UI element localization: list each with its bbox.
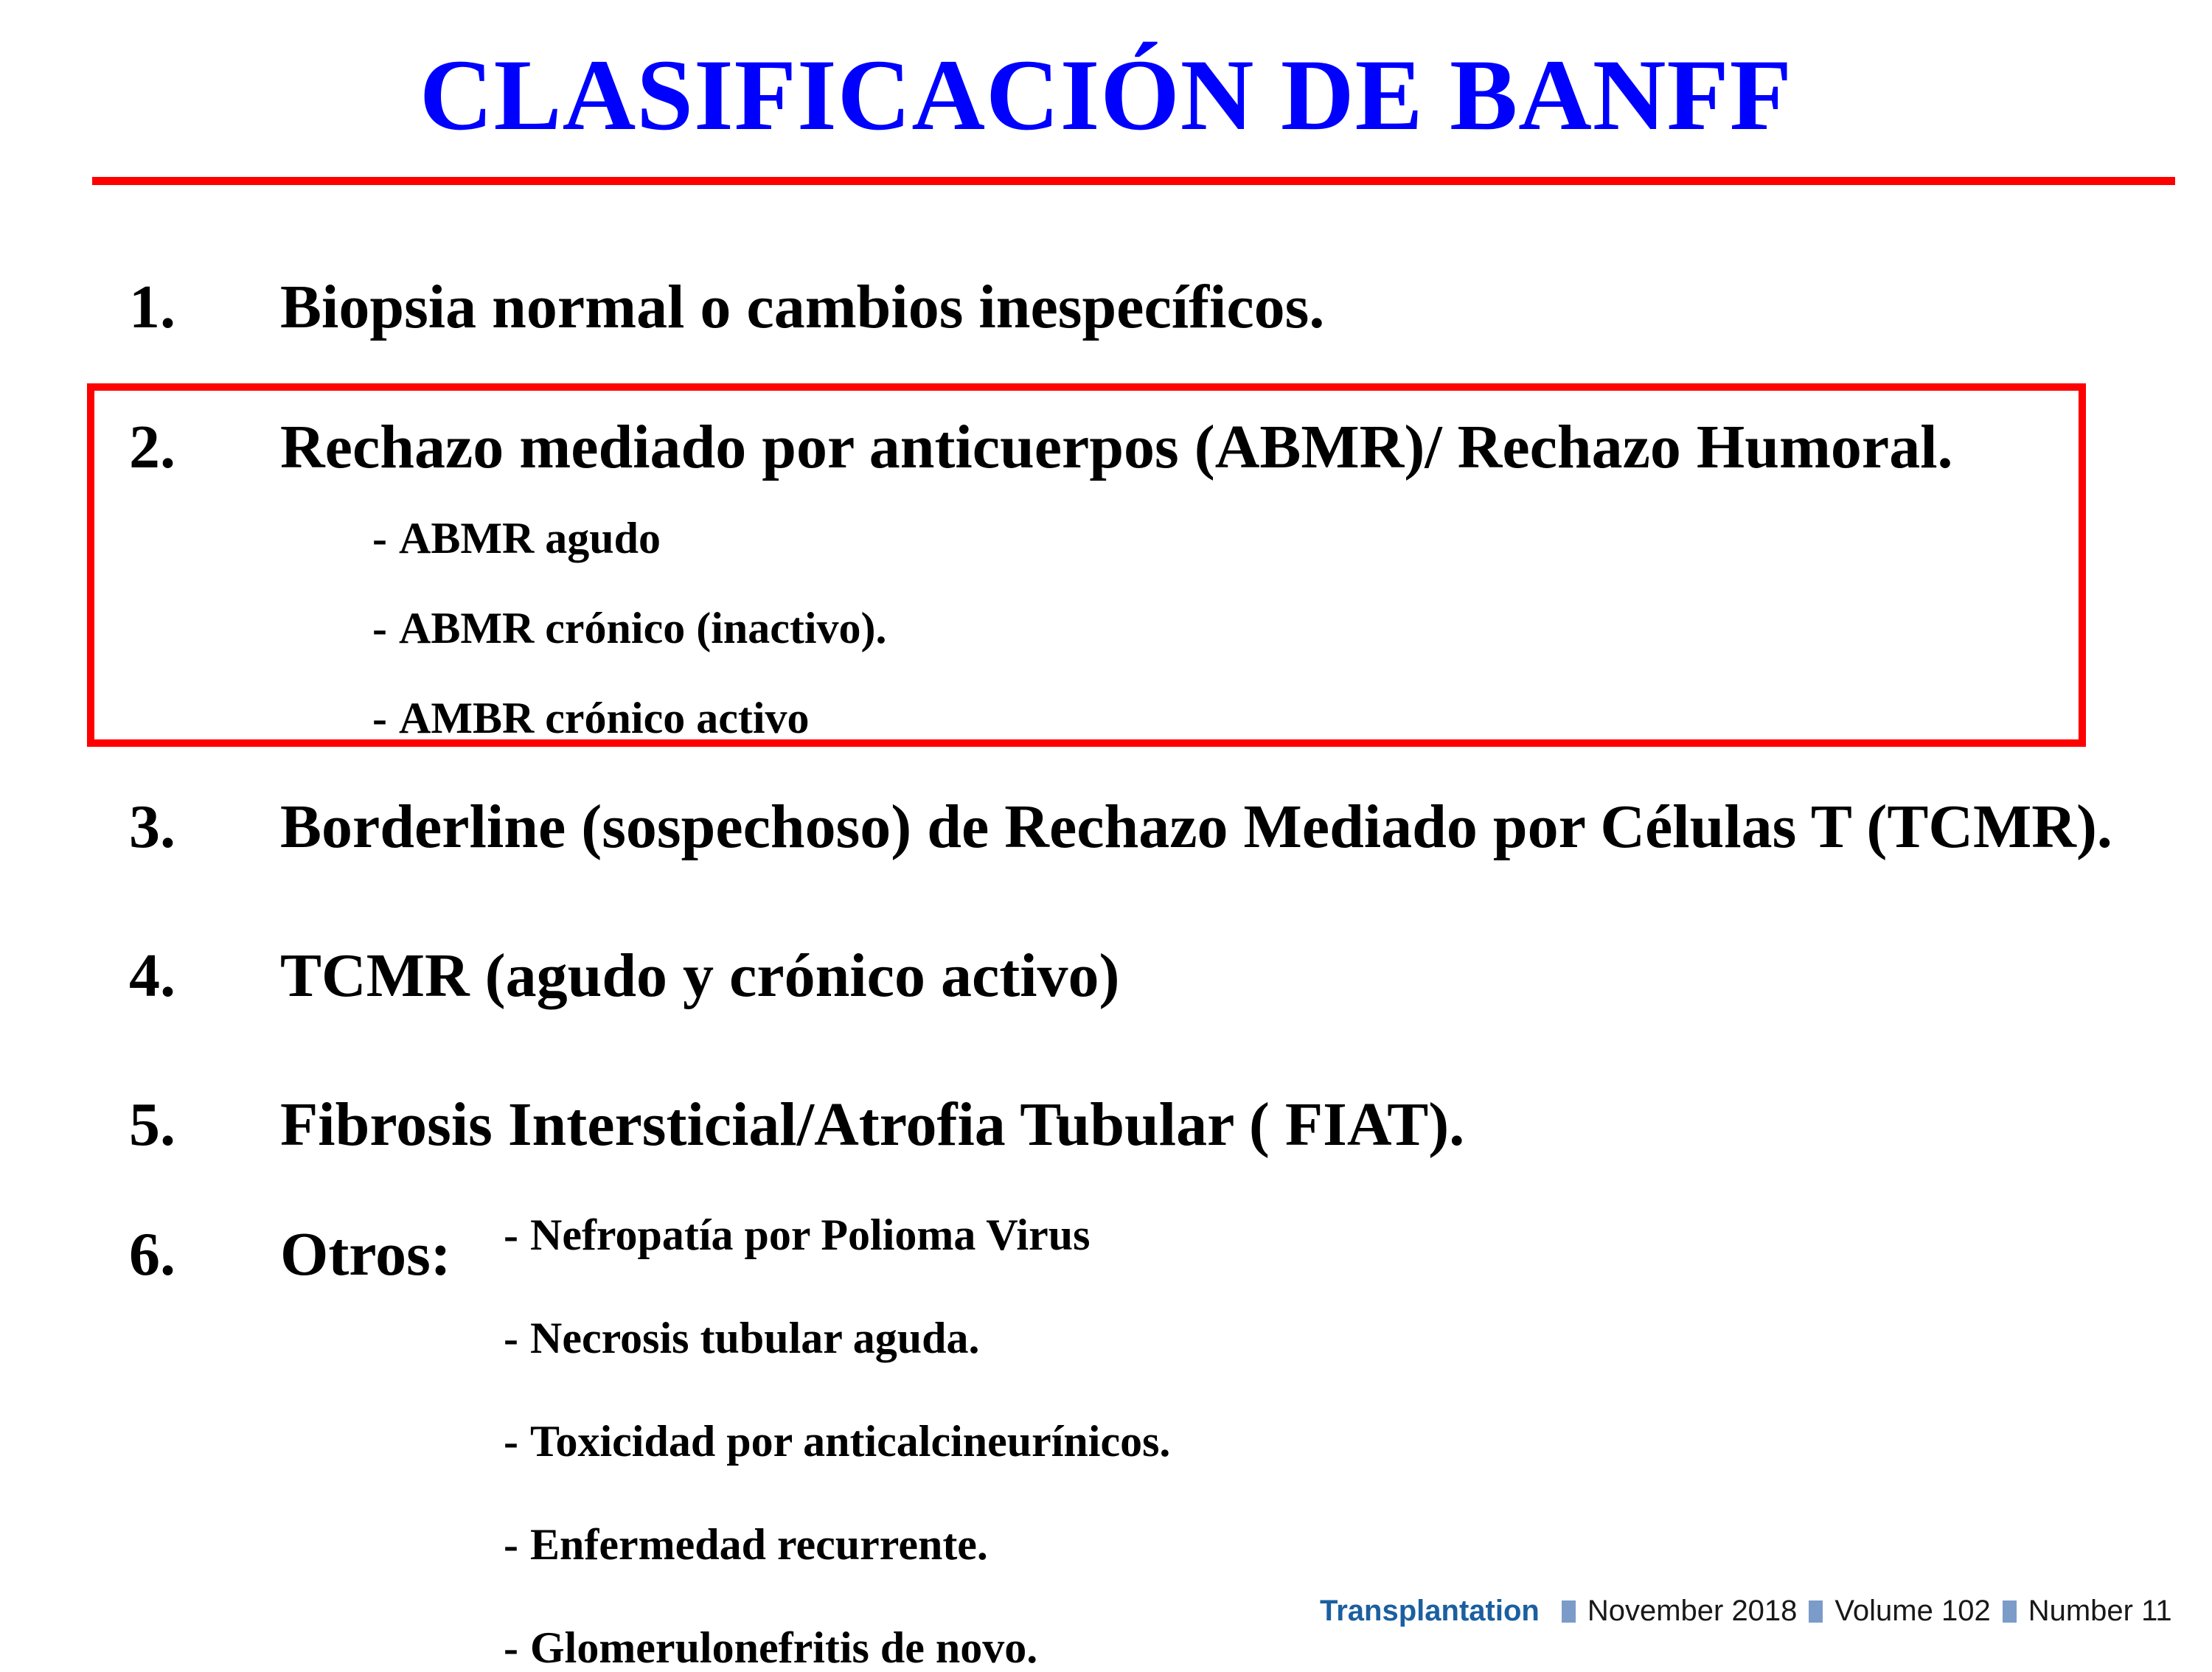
list-item-3-number: 3.: [129, 796, 175, 858]
sub-item-abmr-cronico-inactivo: -ABMR crónico (inactivo).: [372, 606, 887, 650]
list-item-6-number: 6.: [129, 1224, 175, 1286]
journal-name: Transplantation: [1320, 1595, 1540, 1628]
sub-item-ambr-cronico-activo-label: AMBR crónico activo: [399, 694, 810, 742]
dash-marker-icon: -: [372, 606, 387, 650]
list-item-2-label: Rechazo mediado por anticuerpos (ABMR)/ …: [280, 417, 1953, 478]
dash-marker-icon: -: [504, 1626, 518, 1670]
dash-marker-icon: -: [504, 1316, 518, 1360]
list-item-1-number: 1.: [129, 276, 175, 338]
separator-square-icon: [2003, 1600, 2017, 1623]
sub-item-enfermedad-recurrente: -Enfermedad recurrente.: [504, 1522, 988, 1567]
source-citation: Transplantation November 2018 Volume 102…: [1320, 1595, 2172, 1628]
sub-item-necrosis-tubular: -Necrosis tubular aguda.: [504, 1316, 980, 1360]
dash-marker-icon: -: [372, 516, 387, 560]
separator-square-icon: [1562, 1600, 1576, 1623]
dash-marker-icon: -: [504, 1419, 518, 1463]
number-label: Number 11: [2028, 1595, 2172, 1628]
list-item-2-number: 2.: [129, 417, 175, 478]
list-item-6-label: Otros:: [280, 1224, 451, 1286]
sub-item-abmr-agudo: -ABMR agudo: [372, 516, 661, 560]
sub-item-abmr-agudo-label: ABMR agudo: [399, 514, 661, 562]
sub-item-nefropatia-polioma-label: Nefropatía por Polioma Virus: [530, 1211, 1090, 1259]
sub-item-necrosis-tubular-label: Necrosis tubular aguda.: [530, 1314, 980, 1362]
list-item-1-label: Biopsia normal o cambios inespecíficos.: [280, 276, 1324, 338]
dash-marker-icon: -: [504, 1213, 518, 1257]
sub-item-toxicidad-anticalcineurinicos: -Toxicidad por anticalcineurínicos.: [504, 1419, 1170, 1463]
sub-item-glomerulonefritis-de-novo-label: Glomerulonefritis de novo.: [530, 1623, 1037, 1672]
list-item-5-label: Fibrosis Intersticial/Atrofia Tubular ( …: [280, 1094, 1464, 1156]
dash-marker-icon: -: [504, 1522, 518, 1567]
dash-marker-icon: -: [372, 696, 387, 740]
list-item-4-number: 4.: [129, 945, 175, 1007]
sub-item-toxicidad-anticalcineurinicos-label: Toxicidad por anticalcineurínicos.: [530, 1417, 1170, 1466]
sub-item-glomerulonefritis-de-novo: -Glomerulonefritis de novo.: [504, 1626, 1037, 1670]
sub-item-ambr-cronico-activo: -AMBR crónico activo: [372, 696, 810, 740]
sub-item-enfermedad-recurrente-label: Enfermedad recurrente.: [530, 1520, 988, 1569]
separator-square-icon: [1809, 1600, 1823, 1623]
list-item-4-label: TCMR (agudo y crónico activo): [280, 945, 1120, 1007]
sub-item-abmr-cronico-inactivo-label: ABMR crónico (inactivo).: [399, 604, 887, 652]
list-item-3-label: Borderline (sospechoso) de Rechazo Media…: [280, 796, 2112, 858]
list-item-5-number: 5.: [129, 1094, 175, 1156]
page-title: CLASIFICACIÓN DE BANFF: [0, 44, 2212, 146]
issue-date: November 2018: [1587, 1595, 1798, 1628]
title-divider-rule: [92, 177, 2175, 185]
volume-label: Volume 102: [1834, 1595, 1990, 1628]
sub-item-nefropatia-polioma: -Nefropatía por Polioma Virus: [504, 1213, 1090, 1257]
